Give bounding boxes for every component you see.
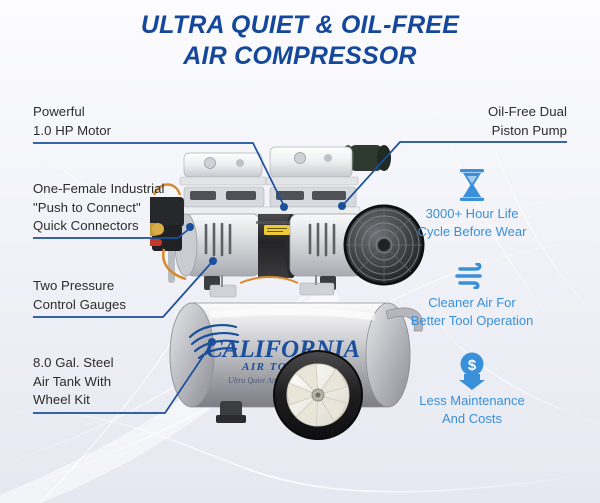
hourglass-icon-wrap [377,168,567,207]
leader-dot-gauges [209,257,217,265]
leader-dot-tank [208,338,216,346]
callout-piston-pump: Oil-Free Dual Piston Pump [377,103,567,140]
callout-pressure-gauges: Two Pressure Control Gauges [33,277,126,314]
feature-less-maintenance: Less Maintenance And Costs [377,392,567,428]
feature-life-cycle: 3000+ Hour Life Cycle Before Wear [377,205,567,241]
feature-cleaner-air: Cleaner Air For Better Tool Operation [377,294,567,330]
dollar-coin-down-arrow-icon-wrap: $ [377,352,567,395]
dollar-coin-down-arrow-icon: $ [456,352,488,390]
leader-dot-motor [280,203,288,211]
callout-motor: Powerful 1.0 HP Motor [33,103,111,140]
leader-dot-piston-pump [338,202,346,210]
callout-air-tank: 8.0 Gal. Steel Air Tank With Wheel Kit [33,354,114,410]
callout-quick-connectors: One-Female Industrial "Push to Connect" … [33,180,165,236]
wind-icon [454,263,490,289]
infographic-canvas: ULTRA QUIET & OIL-FREE AIR COMPRESSOR [0,0,600,503]
leader-dot-quick-connectors [186,223,194,231]
svg-text:$: $ [468,357,477,374]
wind-icon-wrap [377,263,567,294]
hourglass-icon [457,168,487,202]
